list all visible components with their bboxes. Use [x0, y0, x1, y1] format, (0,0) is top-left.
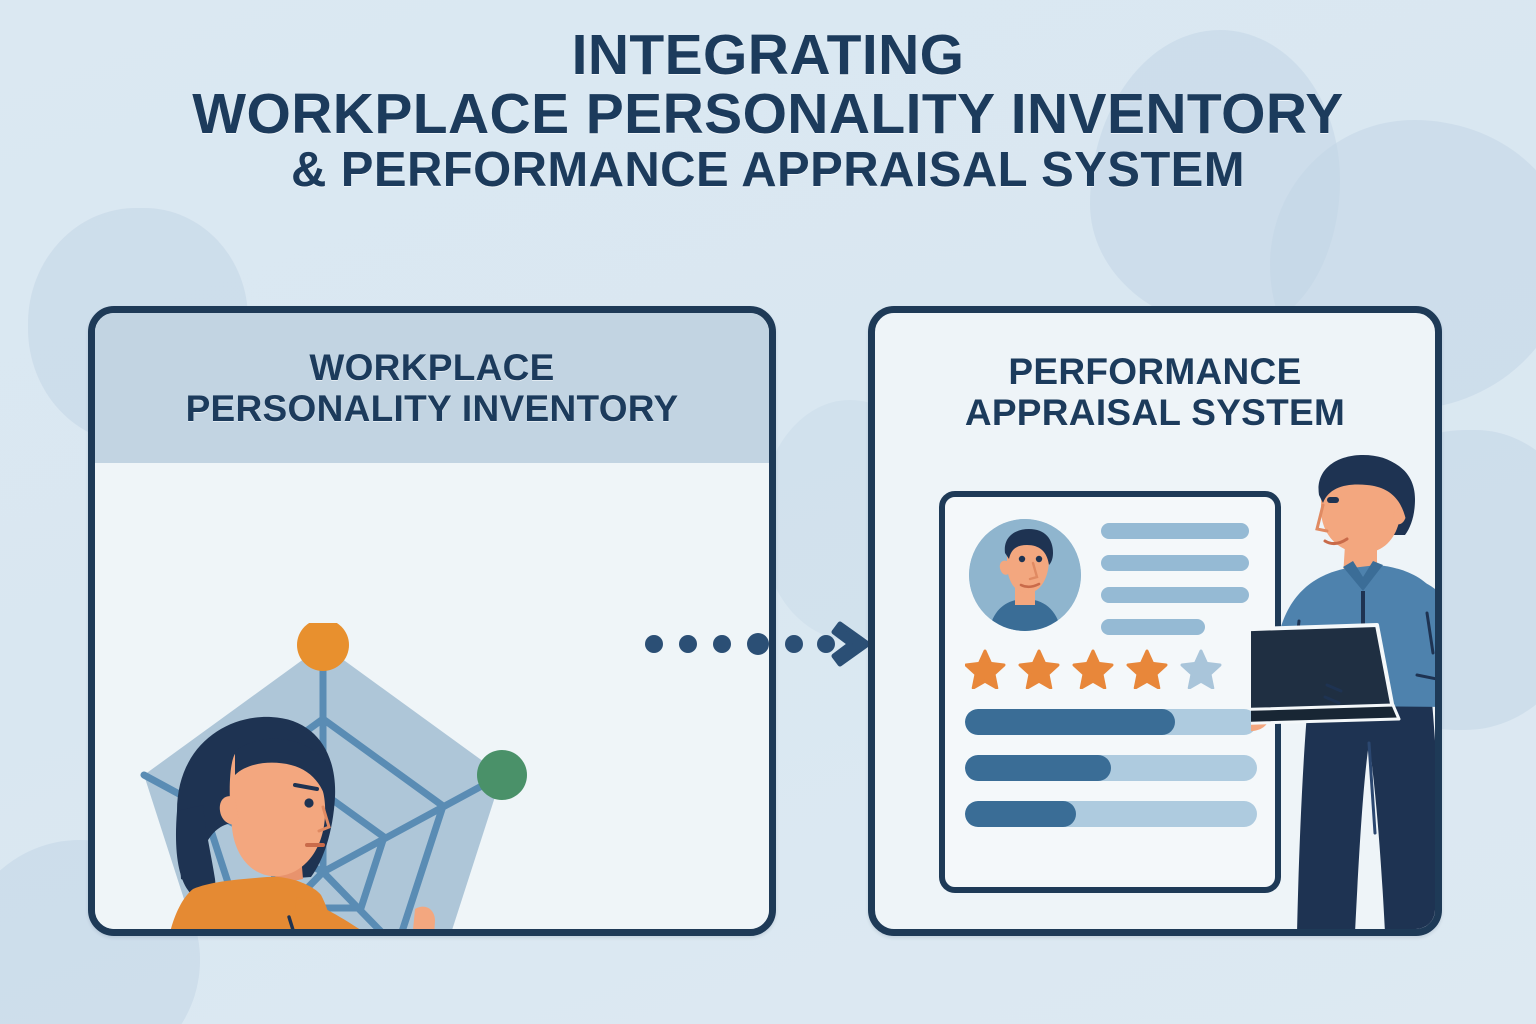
left-panel-title: WORKPLACE PERSONALITY INVENTORY	[186, 347, 679, 430]
progress-bar	[965, 801, 1257, 827]
progress-bar-fill	[965, 709, 1175, 735]
right-panel-title-line-2: APPRAISAL SYSTEM	[965, 392, 1345, 433]
laptop-screen-icon	[1251, 625, 1393, 715]
appraisal-card	[939, 491, 1281, 893]
detail-line	[1101, 587, 1249, 603]
page-title: INTEGRATING WORKPLACE PERSONALITY INVENT…	[0, 26, 1536, 195]
star-icon	[1074, 651, 1112, 688]
star-icon-empty	[1182, 651, 1220, 688]
star-icon	[1020, 651, 1058, 688]
star-icon	[1128, 651, 1166, 688]
title-line-1: INTEGRATING	[0, 26, 1536, 85]
progress-bar-fill	[965, 755, 1111, 781]
woman-illustration	[88, 693, 445, 936]
infographic-canvas: INTEGRATING WORKPLACE PERSONALITY INVENT…	[0, 0, 1536, 1024]
radar-marker-green	[477, 750, 527, 800]
left-panel-body	[95, 463, 769, 929]
arrowhead-icon	[834, 624, 868, 664]
detail-line	[1101, 523, 1249, 539]
left-panel-title-line-1: WORKPLACE	[309, 347, 554, 388]
avatar	[969, 519, 1081, 631]
star-icon	[966, 651, 1004, 688]
progress-bar	[965, 709, 1257, 735]
detail-line	[1101, 619, 1205, 635]
title-line-2: WORKPLACE PERSONALITY INVENTORY	[0, 85, 1536, 144]
right-panel-title: PERFORMANCE APPRAISAL SYSTEM	[875, 351, 1435, 434]
detail-lines	[1101, 523, 1249, 651]
flow-arrow-icon	[644, 616, 874, 672]
detail-line	[1101, 555, 1249, 571]
man-illustration	[1251, 453, 1442, 933]
progress-bar-fill	[965, 801, 1076, 827]
right-panel-title-line-1: PERFORMANCE	[1008, 351, 1301, 392]
left-panel-title-line-2: PERSONALITY INVENTORY	[186, 388, 679, 429]
progress-bar	[965, 755, 1257, 781]
progress-bars	[965, 709, 1257, 847]
title-line-3: & PERFORMANCE APPRAISAL SYSTEM	[0, 145, 1536, 196]
star-rating	[965, 649, 1255, 689]
panel-performance-appraisal-system: PERFORMANCE APPRAISAL SYSTEM	[868, 306, 1442, 936]
left-panel-header: WORKPLACE PERSONALITY INVENTORY	[95, 313, 769, 463]
